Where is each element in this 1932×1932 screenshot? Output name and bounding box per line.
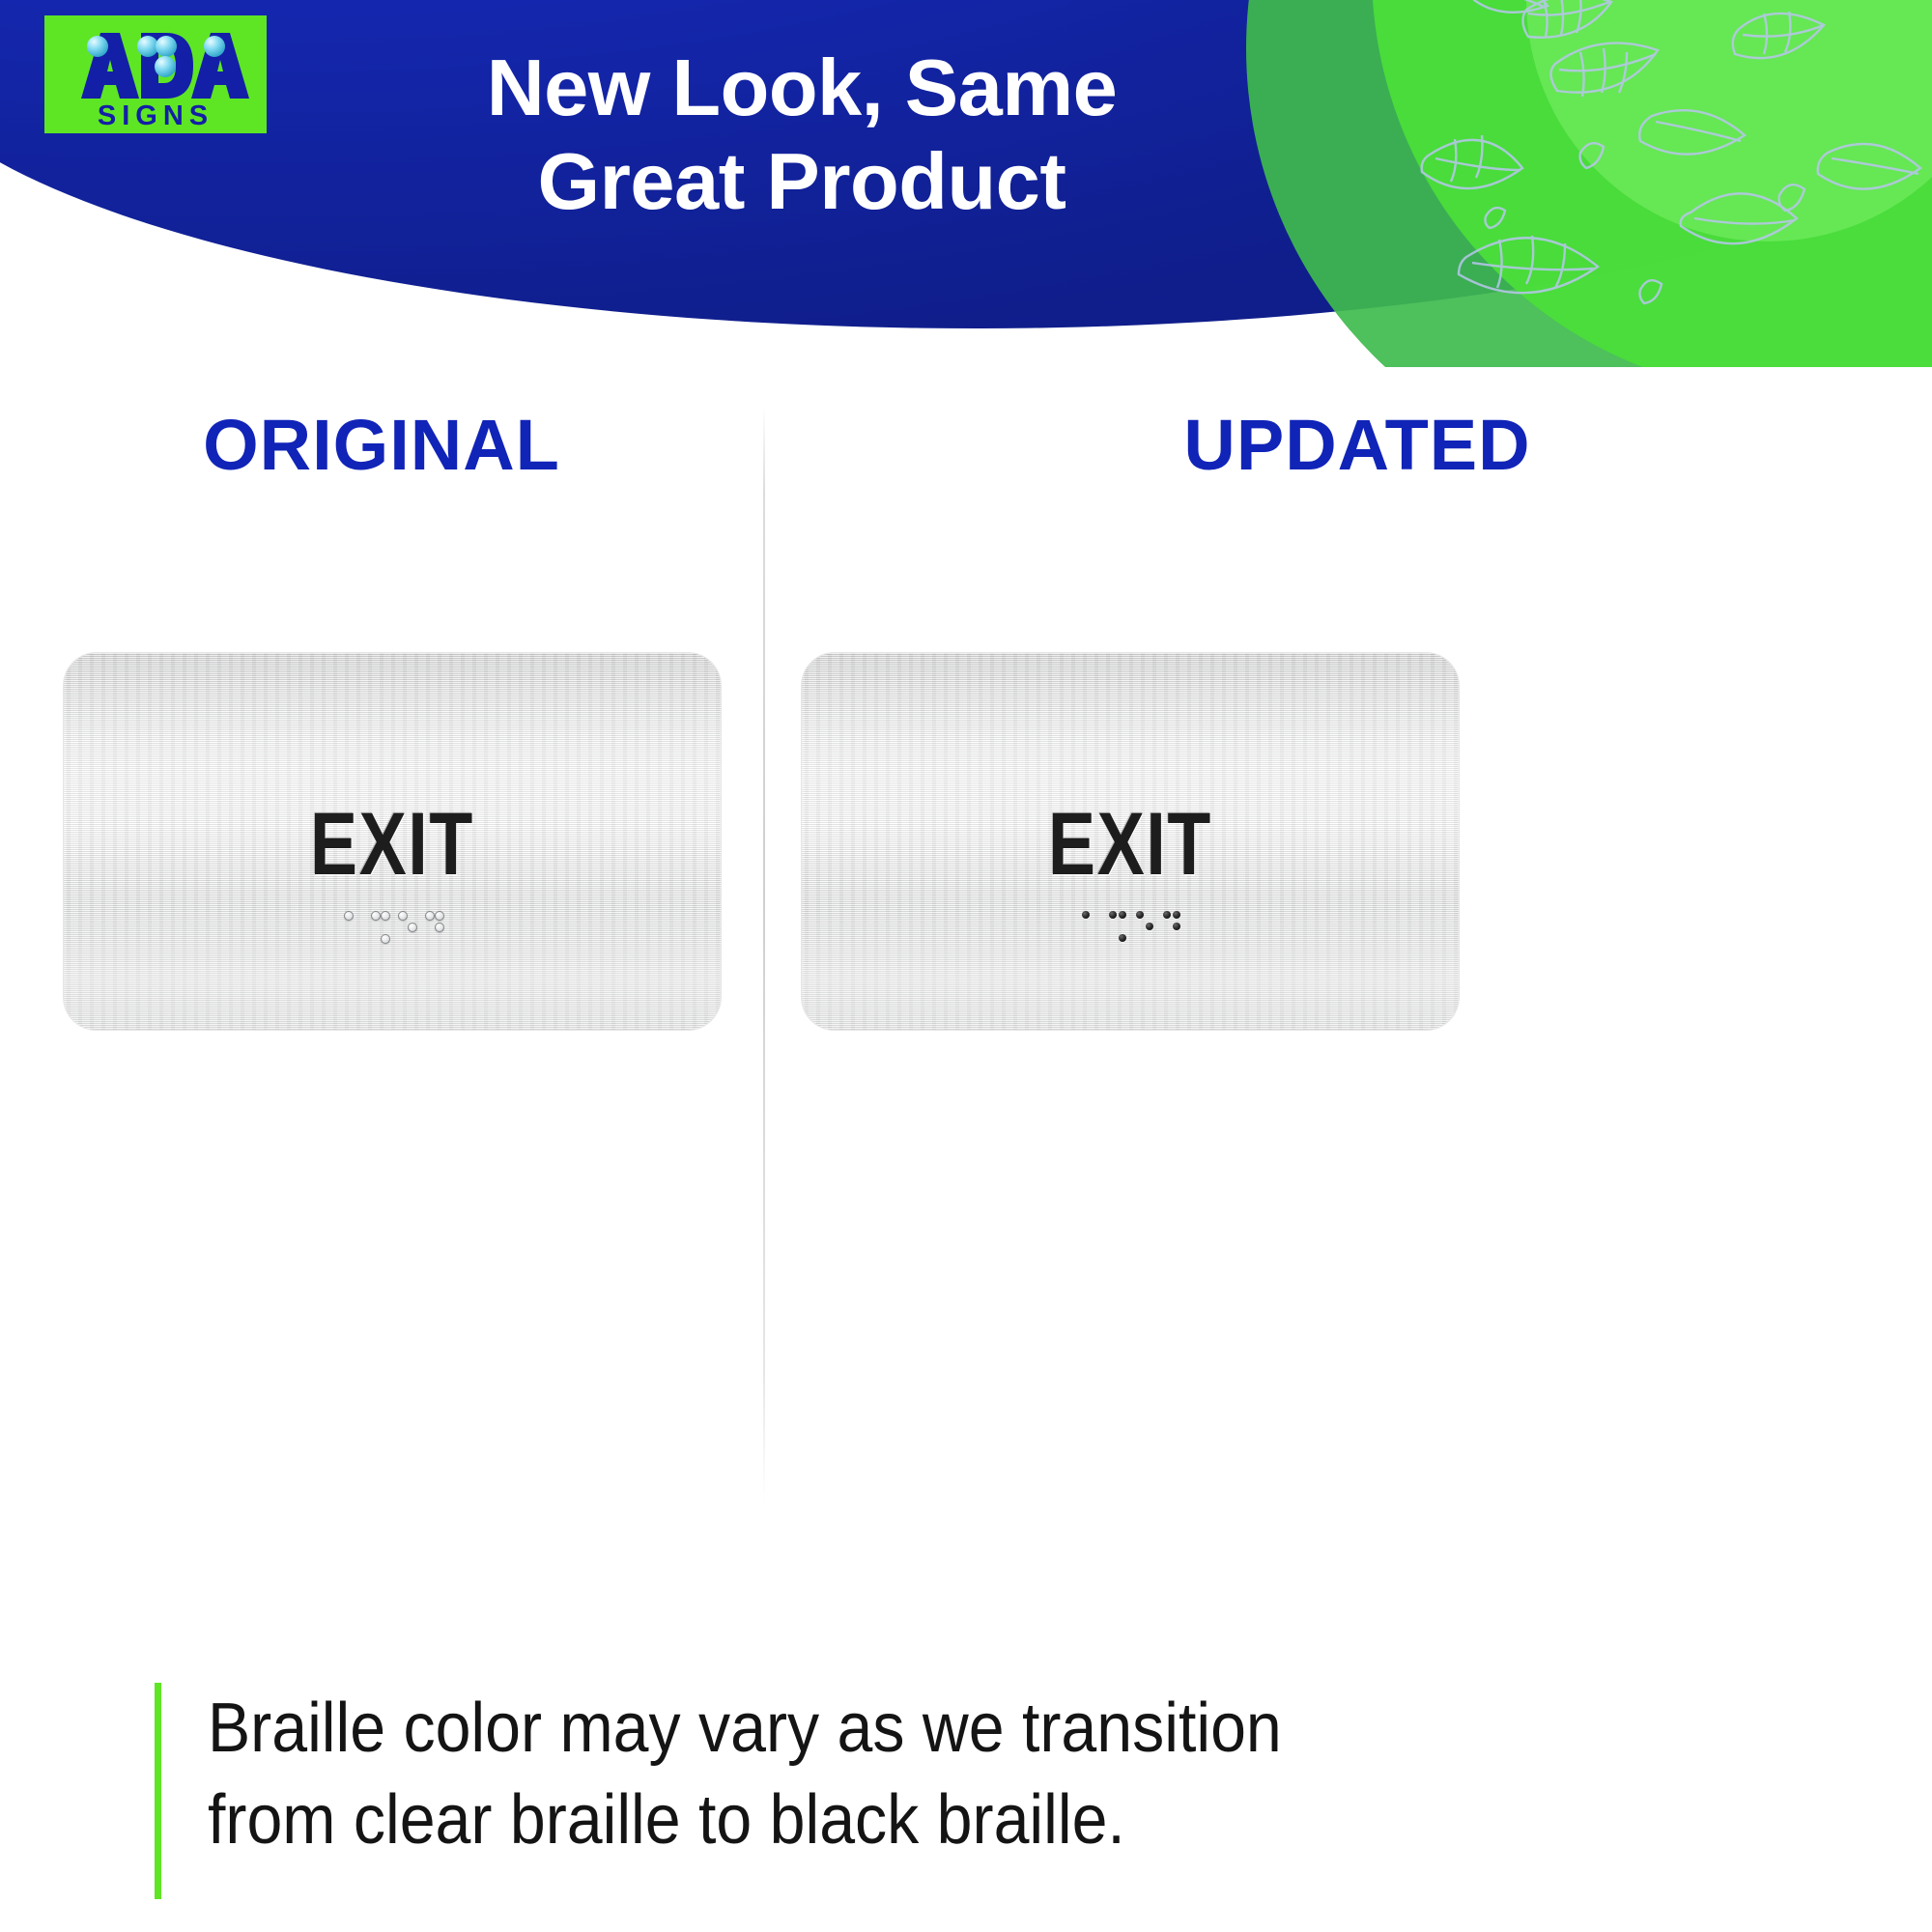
- braille-cell: [1108, 910, 1126, 945]
- braille-dot: [381, 934, 390, 944]
- braille-cell: [424, 910, 442, 945]
- sign-plate-original[interactable]: EXIT: [64, 653, 721, 1030]
- logo-artwork: SIGNS: [44, 15, 267, 133]
- sign-text-original: EXIT: [129, 794, 655, 895]
- braille-dot: [381, 911, 390, 921]
- braille-dot: [1146, 923, 1153, 930]
- braille-cell: [1162, 910, 1180, 945]
- braille-cell: [370, 910, 388, 945]
- braille-dot: [1173, 923, 1180, 930]
- label-updated: UPDATED: [782, 404, 1932, 486]
- braille-dot: [408, 923, 417, 932]
- braille-dot: [425, 911, 435, 921]
- sign-text-updated: EXIT: [867, 794, 1393, 895]
- braille-cell: [1135, 910, 1153, 945]
- page-title-line2: Great Product: [290, 134, 1314, 228]
- braille-cell: [343, 910, 361, 945]
- braille-dot: [1119, 911, 1126, 919]
- infographic-canvas: SIGNS New Look, Same G: [0, 0, 1932, 1932]
- braille-dot: [1082, 911, 1090, 919]
- page-title: New Look, Same Great Product: [290, 41, 1314, 228]
- braille-dot: [398, 911, 408, 921]
- braille-cell: [397, 910, 415, 945]
- braille-dot: [1119, 934, 1126, 942]
- braille-dot: [1173, 911, 1180, 919]
- braille-dot: [1109, 911, 1117, 919]
- vertical-divider: [763, 406, 765, 1502]
- braille-row-updated: [802, 910, 1459, 945]
- page-title-line1: New Look, Same: [290, 41, 1314, 134]
- footnote-line1: Braille color may vary as we transition: [208, 1683, 1719, 1775]
- brand-logo[interactable]: SIGNS: [44, 15, 267, 133]
- braille-dot: [1136, 911, 1144, 919]
- footnote-text: Braille color may vary as we transition …: [208, 1683, 1719, 1866]
- braille-dot: [344, 911, 354, 921]
- braille-dot: [435, 911, 444, 921]
- header-banner: SIGNS New Look, Same G: [0, 0, 1932, 367]
- braille-cell: [1081, 910, 1099, 945]
- sign-surface-original: EXIT: [64, 653, 721, 1030]
- footnote-line2: from clear braille to black braille.: [208, 1775, 1719, 1866]
- footnote-accent-bar: [155, 1683, 161, 1899]
- sign-surface-updated: EXIT: [802, 653, 1459, 1030]
- label-original: ORIGINAL: [0, 404, 763, 486]
- braille-dot: [1163, 911, 1171, 919]
- braille-dot: [435, 923, 444, 932]
- sign-plate-updated[interactable]: EXIT: [802, 653, 1459, 1030]
- braille-dot: [371, 911, 381, 921]
- svg-text:SIGNS: SIGNS: [98, 100, 213, 131]
- braille-row-original: [64, 910, 721, 945]
